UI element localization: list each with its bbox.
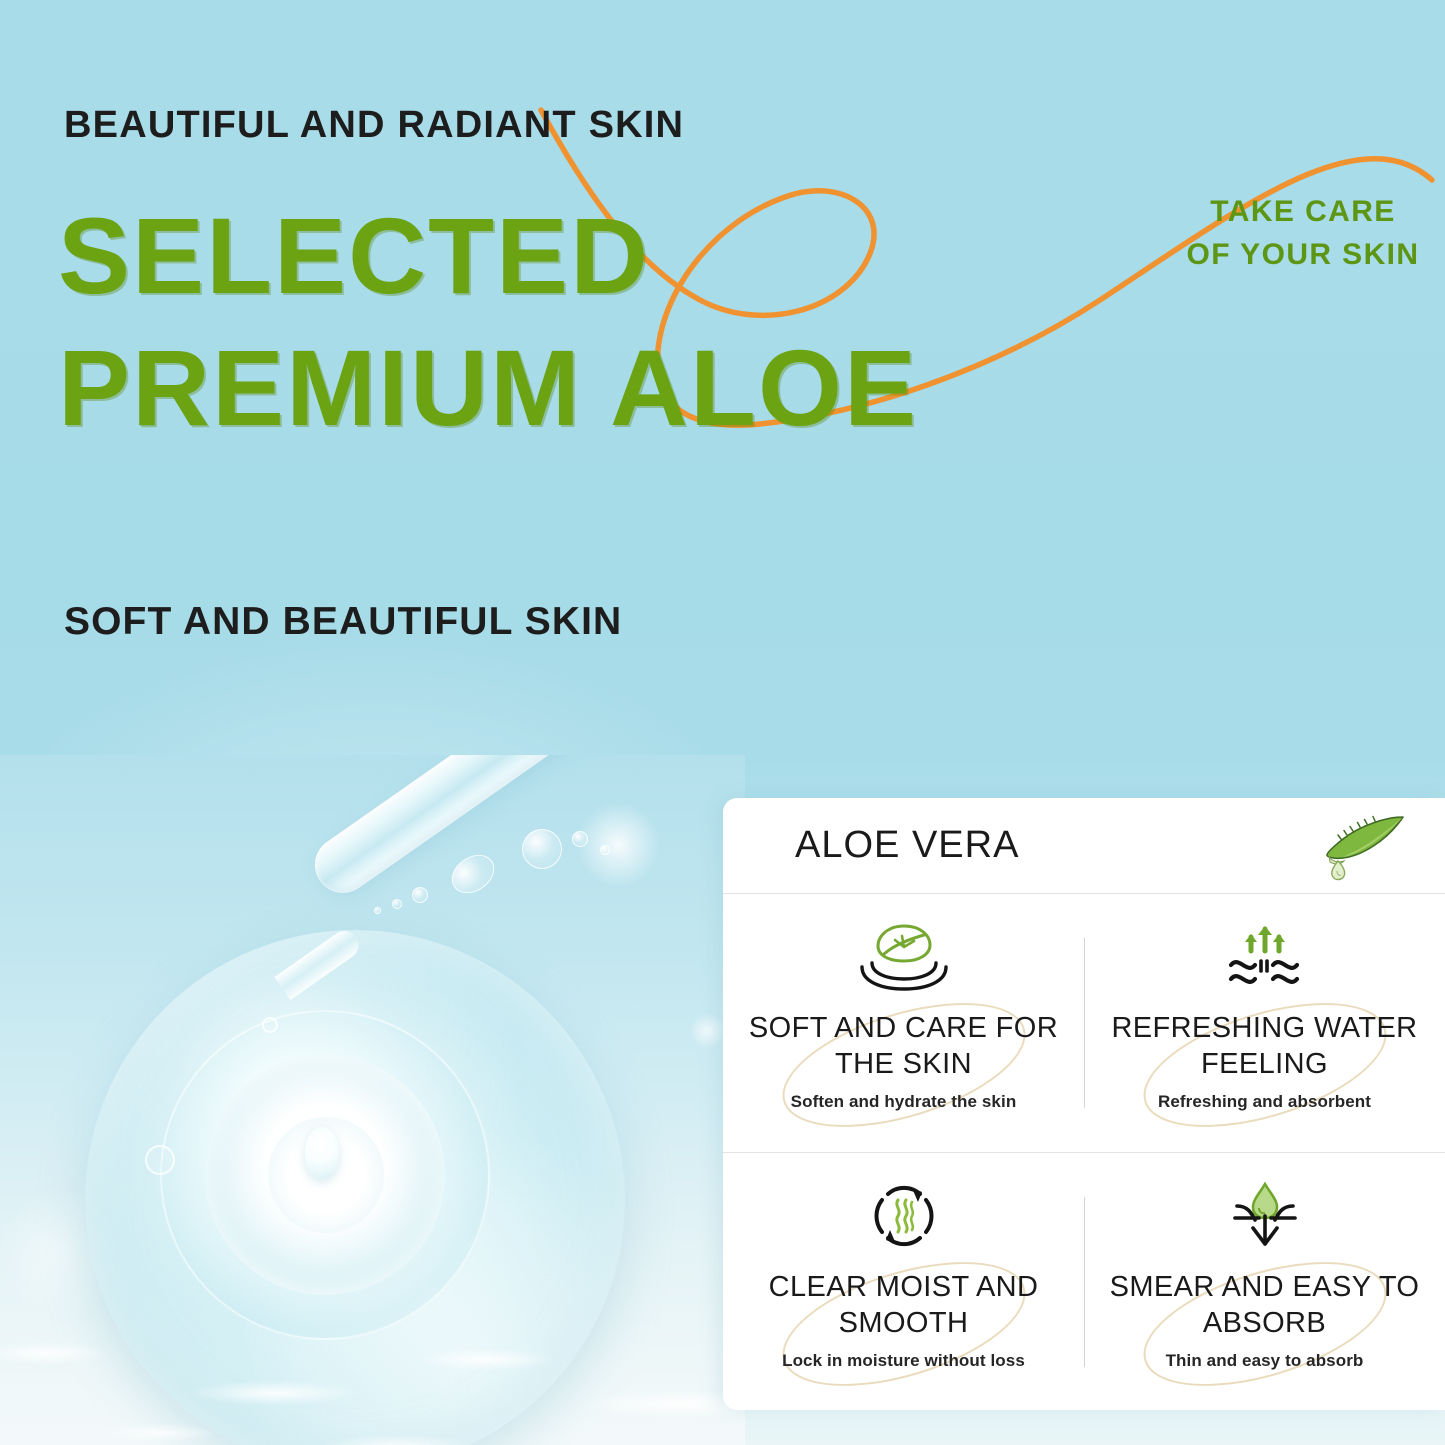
feature-grid: SOFT AND CARE FOR THE SKIN Soften and hy…: [723, 894, 1445, 1411]
feature-text: REFRESHING WATER FEELING Refreshing and …: [1084, 1010, 1445, 1112]
sphere-bubble: [145, 1145, 175, 1175]
aloe-vera-product-poster: BEAUTIFUL AND RADIANT SKIN SELECTED PREM…: [0, 0, 1445, 1445]
bubble: [392, 899, 402, 909]
water-ripples: [0, 1305, 745, 1445]
headline-line-2: PREMIUM ALOE: [58, 322, 918, 454]
feature-cell-clear-moist: CLEAR MOIST AND SMOOTH Lock in moisture …: [723, 1153, 1084, 1411]
card-title: ALOE VERA: [795, 824, 1019, 867]
feature-text: CLEAR MOIST AND SMOOTH Lock in moisture …: [723, 1269, 1084, 1371]
feature-subtitle: Soften and hydrate the skin: [723, 1092, 1084, 1112]
take-care-line-2: OF YOUR SKIN: [1178, 233, 1428, 276]
feature-text: SMEAR AND EASY TO ABSORB Thin and easy t…: [1084, 1269, 1445, 1371]
circular-arrows-moisture-icon: [854, 1179, 954, 1253]
feature-cell-soft-and-care: SOFT AND CARE FOR THE SKIN Soften and hy…: [723, 894, 1084, 1152]
headline-line-1: SELECTED: [58, 195, 650, 316]
bubble: [600, 845, 610, 855]
bubble: [412, 887, 428, 903]
feature-title: SOFT AND CARE FOR THE SKIN: [723, 1010, 1084, 1082]
feature-subtitle: Lock in moisture without loss: [723, 1351, 1084, 1371]
bubble: [374, 907, 381, 914]
pipette-dropper: [300, 795, 730, 965]
bubble: [522, 829, 562, 869]
feature-cell-refreshing-water: REFRESHING WATER FEELING Refreshing and …: [1084, 894, 1445, 1152]
feature-title: REFRESHING WATER FEELING: [1084, 1010, 1445, 1082]
feature-title: SMEAR AND EASY TO ABSORB: [1084, 1269, 1445, 1341]
take-care-line-1: TAKE CARE: [1178, 190, 1428, 233]
hero-subheading: SOFT AND BEAUTIFUL SKIN: [64, 600, 622, 644]
sphere-bubble: [262, 1017, 278, 1033]
bubble: [444, 847, 501, 901]
gel-drop: [305, 1127, 339, 1179]
bubble: [572, 831, 588, 847]
leaf-on-ripples-icon: [854, 920, 954, 994]
feature-title: CLEAR MOIST AND SMOOTH: [723, 1269, 1084, 1341]
droplet-absorb-arrow-icon: [1215, 1179, 1315, 1253]
product-photo: [0, 755, 745, 1445]
arrows-up-over-waves-icon: [1215, 920, 1315, 994]
hero-kicker: BEAUTIFUL AND RADIANT SKIN: [64, 104, 684, 147]
feature-text: SOFT AND CARE FOR THE SKIN Soften and hy…: [723, 1010, 1084, 1112]
feature-subtitle: Refreshing and absorbent: [1084, 1092, 1445, 1112]
page-title: SELECTED PREMIUM ALOE: [58, 190, 918, 454]
take-care-badge: TAKE CARE OF YOUR SKIN: [1178, 190, 1428, 276]
aloe-vera-feature-card: ALOE VERA: [723, 798, 1445, 1410]
feature-subtitle: Thin and easy to absorb: [1084, 1351, 1445, 1371]
card-header: ALOE VERA: [723, 798, 1445, 894]
aloe-leaf-droplet-icon: [1317, 811, 1409, 881]
feature-cell-smear-absorb: SMEAR AND EASY TO ABSORB Thin and easy t…: [1084, 1153, 1445, 1411]
